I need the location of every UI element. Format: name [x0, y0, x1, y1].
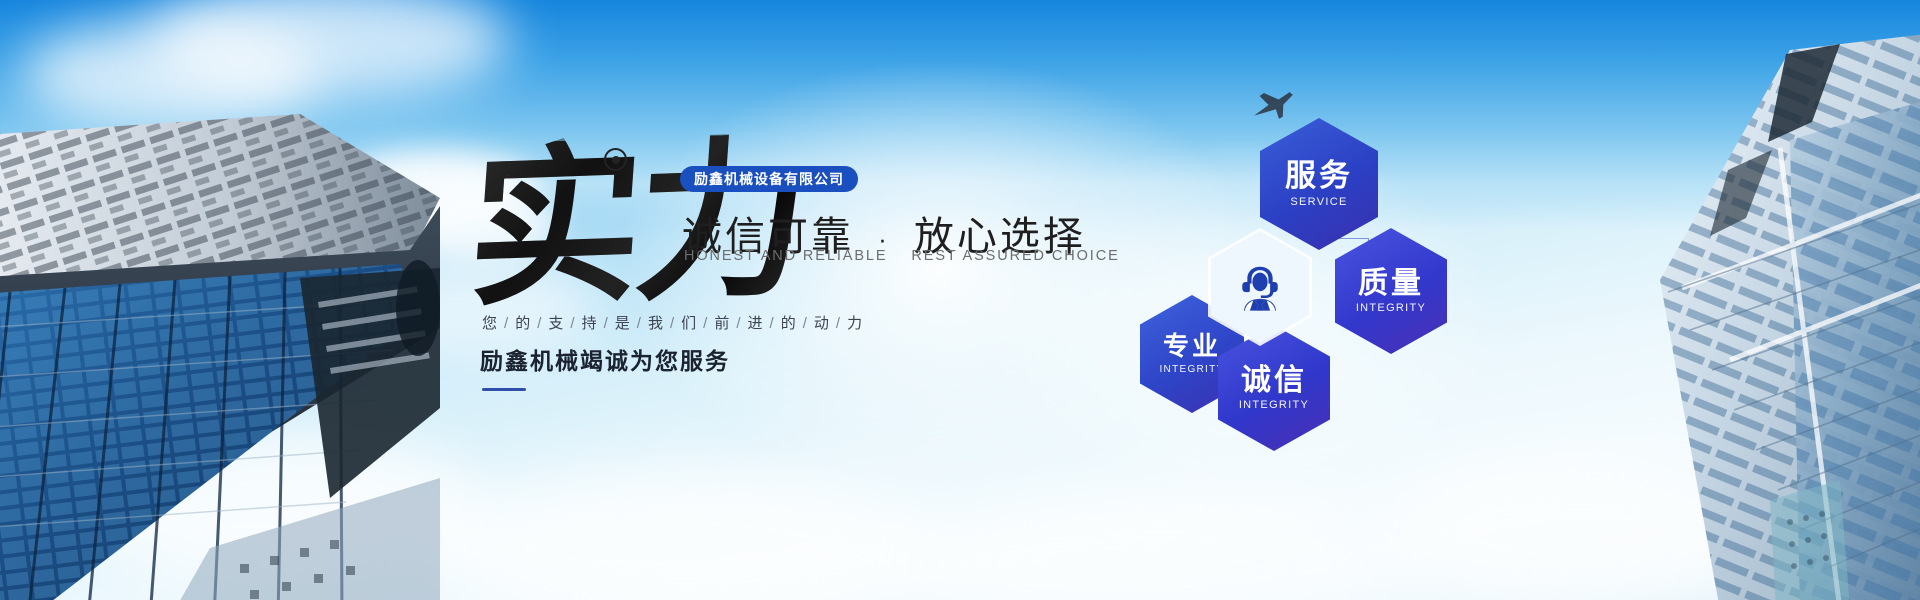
cloud: [420, 470, 940, 600]
subline-char: 的: [781, 315, 797, 332]
subline-char: 力: [847, 315, 863, 332]
subline-divider: /: [830, 315, 847, 332]
skyscraper-right-image: [1540, 30, 1920, 600]
mainline: 励鑫机械竭诚为您服务: [480, 342, 730, 376]
headline-block: 实力 励鑫机械设备有限公司 诚信可靠 · 放心选择 HONEST AND REL…: [470, 120, 1030, 420]
hexagon-cluster: 服务 SERVICE 质量 INTEGRITY 专业 INTEGRITY 诚信 …: [1120, 110, 1480, 510]
subline-char: 的: [515, 315, 531, 332]
subline-char: 进: [748, 315, 764, 332]
accent-rule: [482, 388, 526, 391]
subline-char: 是: [615, 315, 631, 332]
subline-char: 前: [714, 315, 730, 332]
subline-divider: /: [730, 315, 747, 332]
subline-char: 们: [681, 315, 697, 332]
slogan-en-right: REST ASSURED CHOICE: [911, 248, 1119, 264]
circle-dot-mark-icon: [604, 148, 627, 171]
subline-char: 动: [814, 315, 830, 332]
subline-divider: /: [797, 315, 814, 332]
hexagon-service[interactable]: 服务 SERVICE: [1260, 118, 1378, 250]
customer-service-agent-icon: [1233, 260, 1287, 314]
subline-char: 持: [582, 315, 598, 332]
hexagon-professional-en: INTEGRITY: [1159, 364, 1224, 375]
slogan-en-left: HONEST AND RELIABLE: [684, 248, 887, 264]
hexagon-integrity-cn: 诚信: [1241, 365, 1307, 397]
subline-divider: /: [498, 315, 515, 332]
subline-char: 支: [548, 315, 564, 332]
hexagon-professional-cn: 专业: [1163, 333, 1221, 360]
subline-divider: /: [598, 315, 615, 332]
subline-divider: /: [531, 315, 548, 332]
hexagon-service-en: SERVICE: [1290, 196, 1347, 208]
slogan-english: HONEST AND RELIABLE REST ASSURED CHOICE: [684, 248, 1138, 264]
skyscraper-left-image: [0, 78, 440, 600]
brand-badge: 励鑫机械设备有限公司: [680, 166, 858, 192]
subline-divider: /: [664, 315, 681, 332]
subline-divider: /: [764, 315, 781, 332]
subline-divider: /: [631, 315, 648, 332]
subline-char: 您: [482, 315, 498, 332]
hexagon-quality-cn: 质量: [1358, 268, 1424, 300]
subline-chars: 您/的/支/持/是/我/们/前/进/的/动/力: [482, 312, 863, 333]
hexagon-quality-en: INTEGRITY: [1356, 302, 1426, 314]
promo-banner: 实力 励鑫机械设备有限公司 诚信可靠 · 放心选择 HONEST AND REL…: [0, 0, 1920, 600]
subline-divider: /: [697, 315, 714, 332]
hexagon-integrity-en: INTEGRITY: [1239, 399, 1309, 411]
subline-divider: /: [564, 315, 581, 332]
subline-char: 我: [648, 315, 664, 332]
hexagon-service-cn: 服务: [1285, 160, 1353, 193]
